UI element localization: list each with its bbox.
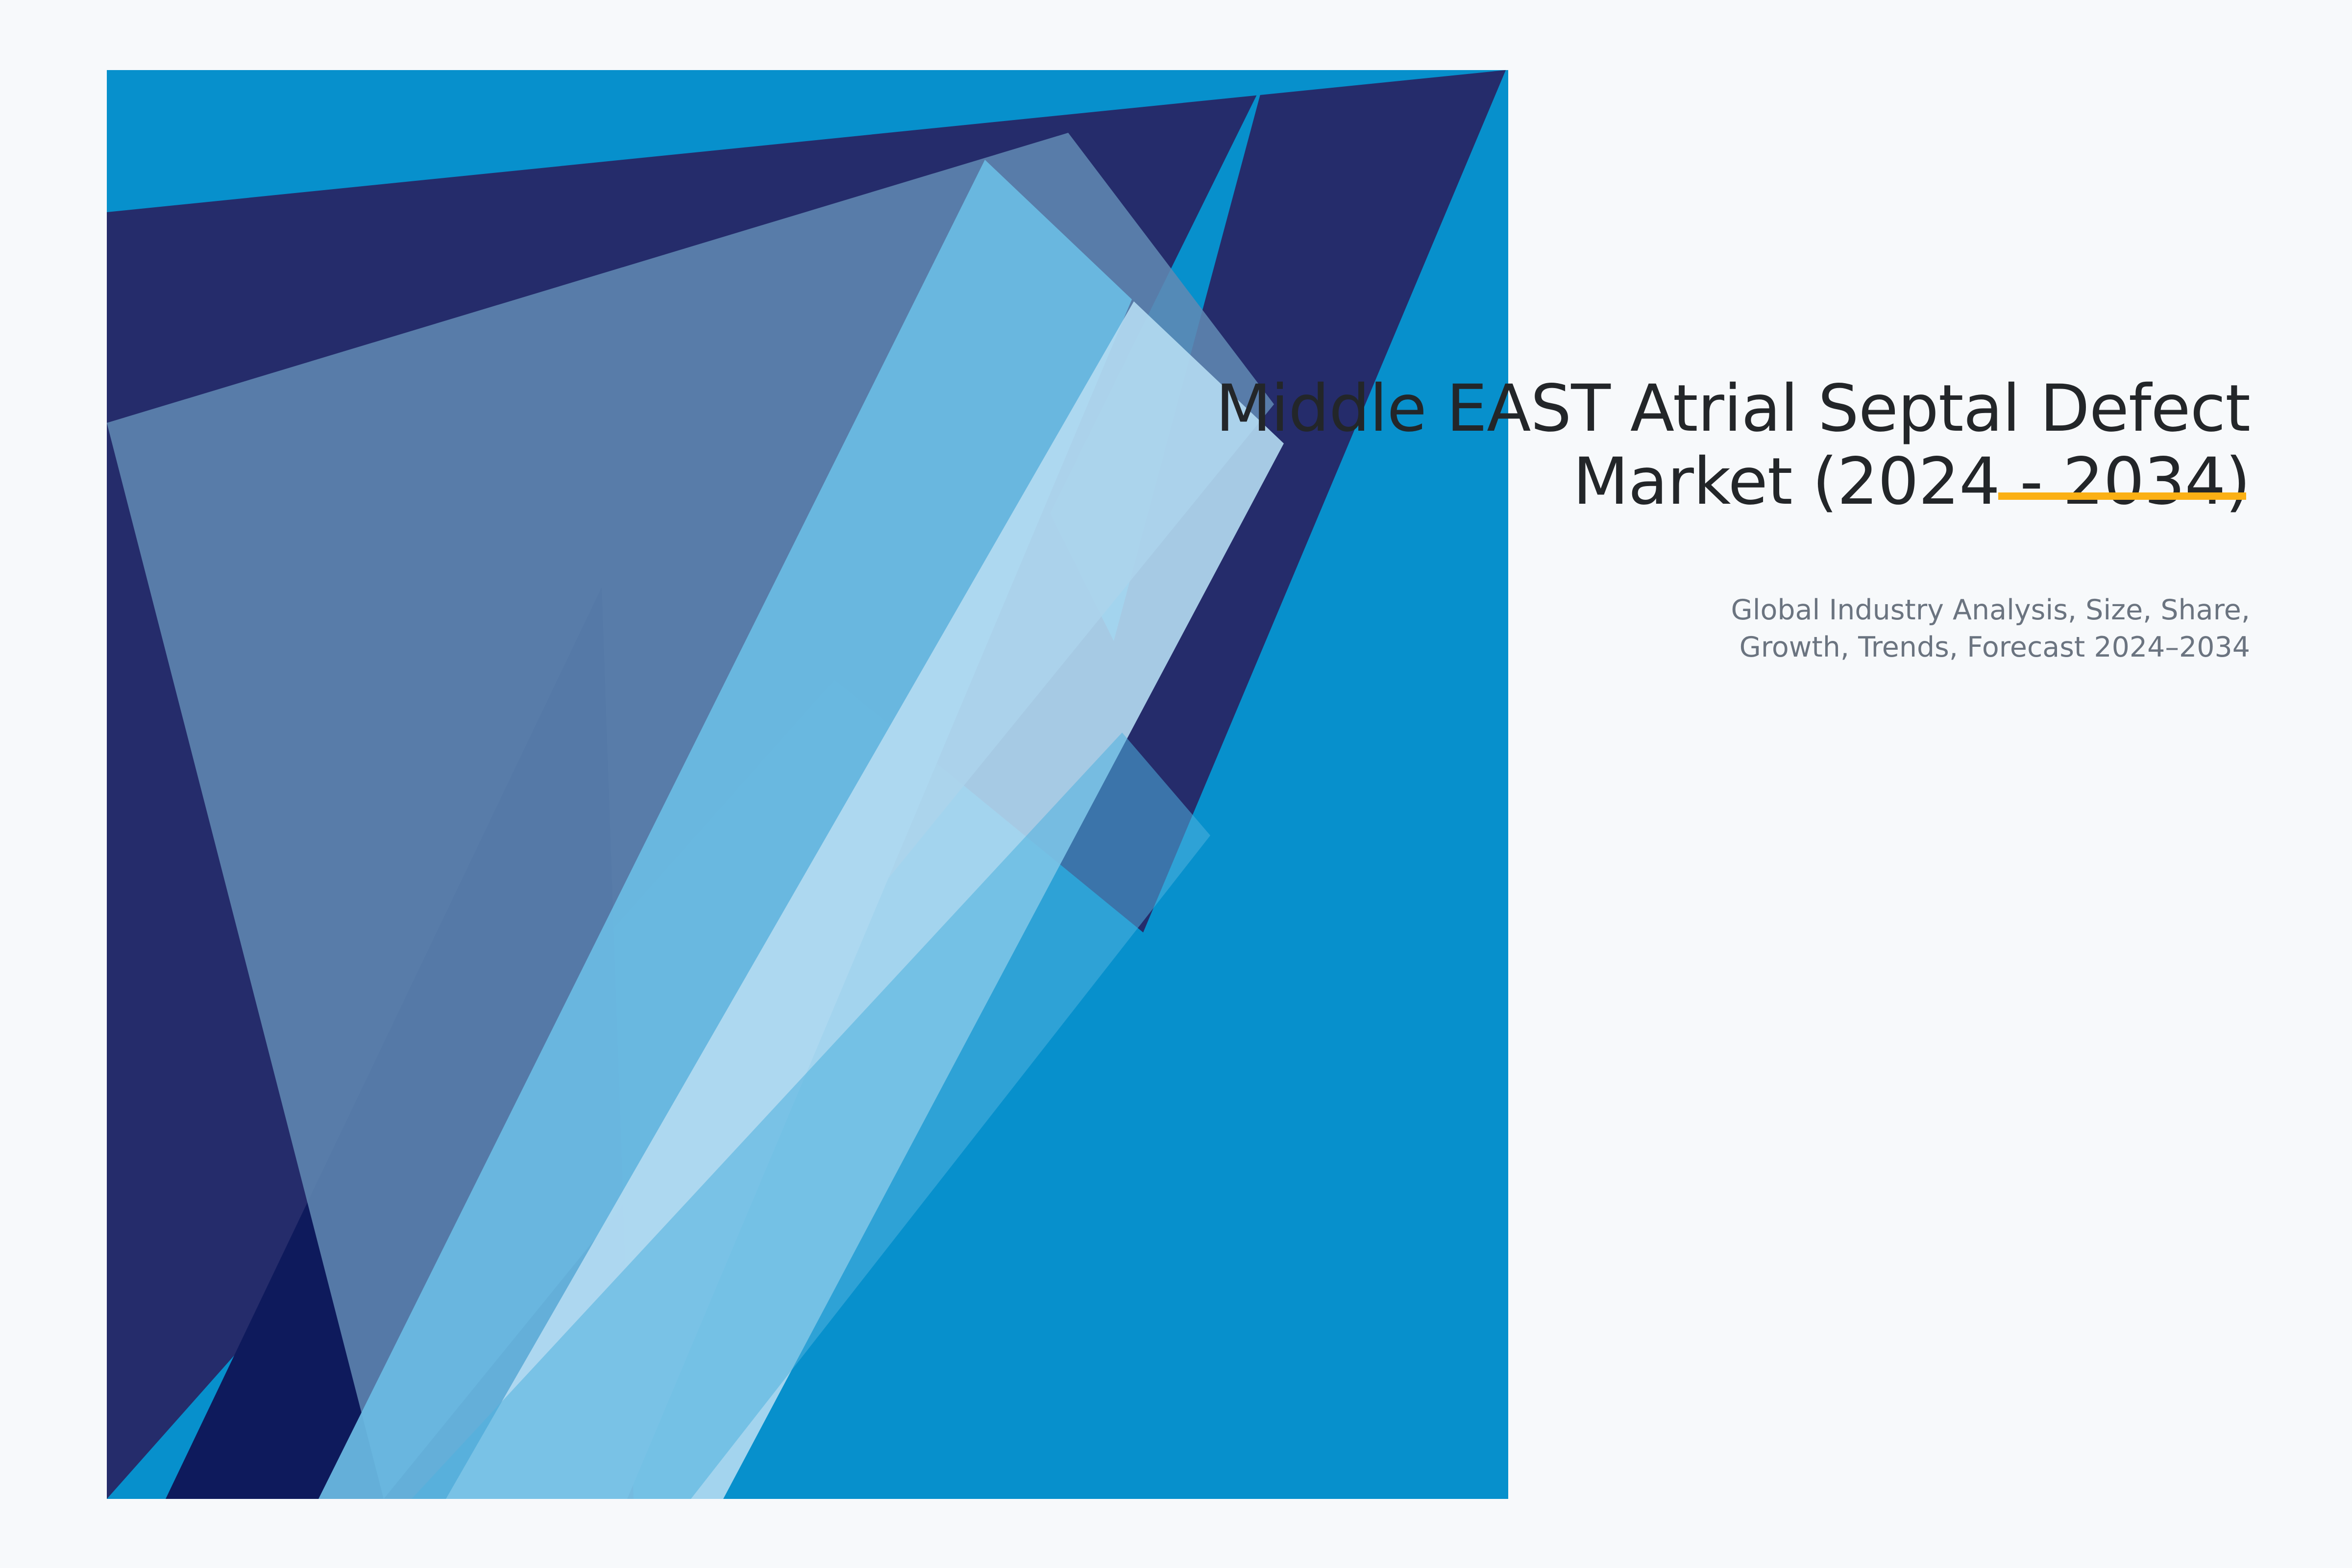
title-line-1: Middle EAST Atrial Septal Defect bbox=[1019, 372, 2250, 445]
subtitle-line-2: Growth, Trends, Forecast 2024–2034 bbox=[1019, 629, 2250, 666]
subtitle-line-1: Global Industry Analysis, Size, Share, bbox=[1019, 592, 2250, 629]
report-cover: Middle EAST Atrial Septal Defect Market … bbox=[0, 0, 2352, 1568]
abstract-geometry-svg bbox=[107, 70, 1508, 1499]
cover-text-block: Middle EAST Atrial Septal Defect Market … bbox=[1019, 372, 2250, 666]
title-line-2: Market (2024 - 2034) bbox=[1019, 445, 2250, 518]
title-accent-underline bbox=[1998, 492, 2246, 500]
page-title: Middle EAST Atrial Septal Defect Market … bbox=[1019, 372, 2250, 518]
cover-artwork bbox=[107, 70, 1508, 1499]
page-subtitle: Global Industry Analysis, Size, Share, G… bbox=[1019, 592, 2250, 666]
